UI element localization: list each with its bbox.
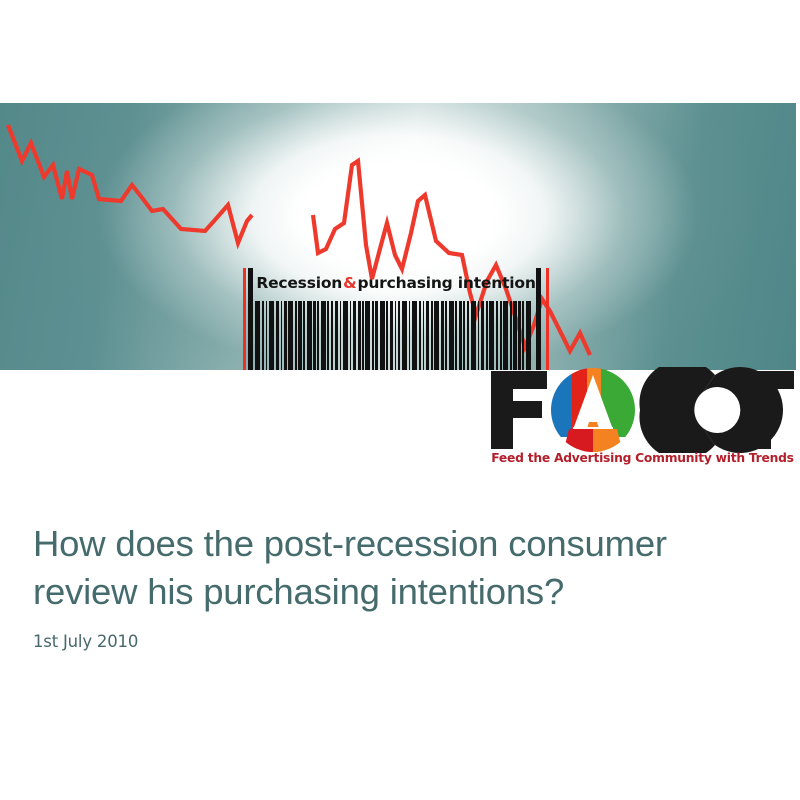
barcode-bar bbox=[390, 301, 393, 370]
barcode-bar bbox=[298, 301, 301, 370]
barcode-bar bbox=[380, 301, 385, 370]
barcode-bar bbox=[307, 301, 312, 370]
barcode-bar bbox=[412, 301, 417, 370]
barcode-bar bbox=[317, 301, 319, 370]
presentation-date: 1st July 2010 bbox=[33, 632, 763, 651]
barcode-bar bbox=[372, 301, 374, 370]
barcode-bar bbox=[288, 301, 293, 370]
barcode-bar bbox=[471, 301, 476, 370]
barcode-bar bbox=[459, 301, 462, 370]
barcode-bar bbox=[431, 301, 433, 370]
barcode-bar bbox=[441, 301, 444, 370]
barcode-bar bbox=[510, 301, 512, 370]
barcode-bar bbox=[303, 301, 305, 370]
barcode-bar bbox=[455, 301, 457, 370]
barcode-bar bbox=[481, 301, 484, 370]
barcode-bar bbox=[478, 301, 480, 370]
barcode-right-red-line bbox=[546, 268, 549, 370]
fact-logo-letters bbox=[489, 367, 796, 453]
barcode-bar bbox=[423, 301, 425, 370]
page-title: How does the post-recession consumer rev… bbox=[33, 520, 763, 616]
barcode-bar bbox=[255, 301, 260, 370]
barcode-bar bbox=[365, 301, 370, 370]
barcode-bar bbox=[335, 301, 338, 370]
barcode-bar bbox=[284, 301, 287, 370]
barcode-bar bbox=[496, 301, 499, 370]
barcode-bar bbox=[486, 301, 488, 370]
barcode-bar bbox=[463, 301, 465, 370]
barcode-right-guard-bar bbox=[536, 268, 541, 370]
barcode-headline-suffix: purchasing intention bbox=[357, 274, 535, 292]
barcode-bar bbox=[281, 301, 283, 370]
barcode-bar bbox=[445, 301, 447, 370]
barcode-bar bbox=[402, 301, 407, 370]
barcode-bar bbox=[353, 301, 356, 370]
barcode-bar bbox=[266, 301, 268, 370]
barcode-left-red-line bbox=[243, 268, 246, 370]
barcode-bar bbox=[327, 301, 329, 370]
barcode-left-guard-bar bbox=[248, 268, 253, 370]
barcode-headline-prefix: Recession bbox=[256, 274, 342, 292]
barcode-bar bbox=[503, 301, 508, 370]
barcode-bar bbox=[362, 301, 364, 370]
barcode-bar bbox=[358, 301, 361, 370]
barcode-bar bbox=[467, 301, 470, 370]
barcode-bar bbox=[262, 301, 265, 370]
barcode-bar bbox=[513, 301, 516, 370]
barcode-bar bbox=[522, 301, 524, 370]
barcode-bar bbox=[276, 301, 279, 370]
barcode-bar bbox=[331, 301, 334, 370]
barcode-bar bbox=[489, 301, 494, 370]
barcode-bar bbox=[295, 301, 297, 370]
barcode-bar bbox=[350, 301, 352, 370]
barcode-bar bbox=[434, 301, 439, 370]
barcode-bar bbox=[343, 301, 348, 370]
barcode-bar bbox=[419, 301, 422, 370]
page-title-line-1: How does the post-recession consumer bbox=[33, 523, 667, 564]
barcode-bar bbox=[409, 301, 411, 370]
barcode-bar bbox=[398, 301, 401, 370]
barcode-bar bbox=[518, 301, 521, 370]
logo-letter-a-icon bbox=[551, 367, 635, 453]
barcode-bar bbox=[500, 301, 502, 370]
barcode-bar bbox=[449, 301, 454, 370]
barcode-bar bbox=[313, 301, 316, 370]
page-title-line-2: review his purchasing intentions? bbox=[33, 568, 763, 616]
fact-logo-tagline: Feed the Advertising Community with Tren… bbox=[489, 451, 796, 465]
barcode-headline-ampersand: & bbox=[342, 274, 357, 292]
recession-banner: Recession & purchasing intention bbox=[0, 103, 796, 370]
barcode-graphic: Recession & purchasing intention bbox=[243, 268, 555, 370]
barcode-bar bbox=[386, 301, 388, 370]
barcode-bar bbox=[395, 301, 397, 370]
barcode-bar bbox=[340, 301, 342, 370]
barcode-bar bbox=[269, 301, 274, 370]
barcode-bar bbox=[426, 301, 429, 370]
barcode-bars bbox=[255, 301, 534, 370]
slide-page: Recession & purchasing intention bbox=[0, 0, 800, 800]
title-block: How does the post-recession consumer rev… bbox=[33, 520, 763, 651]
barcode-bar bbox=[321, 301, 326, 370]
barcode-bar bbox=[375, 301, 378, 370]
declining-line-left bbox=[8, 125, 252, 243]
logo-letter-f-icon bbox=[491, 371, 547, 449]
barcode-bar bbox=[526, 301, 531, 370]
fact-logo: Feed the Advertising Community with Tren… bbox=[489, 367, 796, 479]
barcode-headline: Recession & purchasing intention bbox=[257, 269, 535, 297]
